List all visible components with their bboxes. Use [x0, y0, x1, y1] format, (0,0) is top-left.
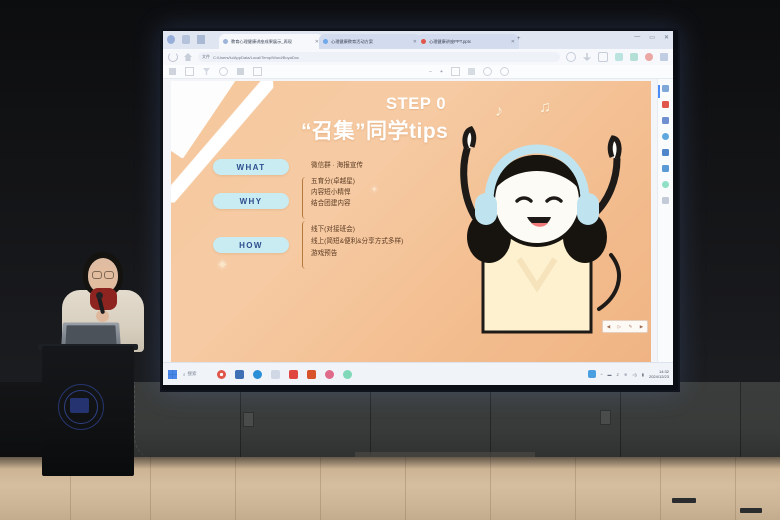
how-line-2: 线上(简短&便利&分享方式多样)	[311, 237, 403, 246]
draw-icon[interactable]: ✎	[629, 324, 633, 330]
wall-socket	[243, 412, 254, 427]
seal-monogram	[70, 398, 89, 413]
why-line-2: 内容短小精悍	[311, 188, 351, 197]
laptop-screen	[65, 325, 116, 345]
document-toolbar: − +	[163, 65, 673, 79]
pill-how: HOW	[213, 237, 289, 253]
why-brace	[302, 177, 309, 219]
window-controls: — ▭ ✕	[634, 34, 669, 41]
rotate-icon[interactable]	[483, 67, 492, 76]
why-line-3: 结合团建内容	[311, 199, 351, 208]
app-icon[interactable]	[662, 149, 669, 156]
browser-tab[interactable]: 心理健康教育活动方案 ✕	[319, 34, 421, 49]
layout-icon[interactable]	[468, 68, 475, 75]
circle-icon[interactable]	[662, 181, 669, 188]
link-icon[interactable]	[219, 67, 228, 76]
address-text: C:/Users/lu/AppData/Local/Temp/Word/Boya…	[213, 55, 299, 60]
filter-icon[interactable]	[203, 68, 210, 75]
person-icon[interactable]	[662, 117, 669, 124]
edge-icon[interactable]	[253, 370, 262, 379]
battery-icon[interactable]: ▮	[642, 372, 644, 377]
podium-cable	[134, 382, 157, 460]
input-icon[interactable]: Z	[617, 372, 619, 377]
toolbox-icon[interactable]	[662, 101, 669, 108]
how-line-3: 游戏预告	[311, 249, 337, 258]
folder-icon[interactable]	[271, 370, 280, 379]
tab-favicon	[223, 39, 228, 44]
tab-label: 心理健康教育活动方案	[331, 39, 373, 45]
explorer-icon[interactable]	[235, 370, 244, 379]
lecture-hall-scene: 教育心理健康讲座成果展示_再现 ✕ 心理健康教育活动方案 ✕ 心理健康讲座PPT…	[0, 0, 780, 520]
music-note-icon: ♫	[539, 99, 551, 117]
start-button[interactable]	[168, 370, 177, 379]
how-line-1: 线下(对接班会)	[311, 225, 355, 234]
wifi-icon[interactable]: ≋	[624, 372, 627, 377]
slide-step-label: STEP 0	[386, 95, 446, 114]
projected-browser-window: 教育心理健康讲座成果展示_再现 ✕ 心理健康教育活动方案 ✕ 心理健康讲座PPT…	[163, 31, 673, 385]
tab-label: 教育心理健康讲座成果展示_再现	[231, 39, 292, 45]
tab-favicon	[323, 39, 328, 44]
text-icon[interactable]	[237, 68, 244, 75]
settings-icon[interactable]	[182, 35, 190, 44]
taskbar-system-tray: ^ ▬ Z ≋ ◁) ▮ 14:32 2024/12/23	[588, 369, 669, 379]
share-icon[interactable]	[598, 52, 608, 62]
microphone-head	[96, 292, 103, 299]
profile-icon[interactable]	[645, 53, 653, 61]
prev-icon[interactable]: ◀	[607, 324, 610, 330]
notification-icon[interactable]	[588, 370, 596, 378]
slide-title: “召集”同学tips	[301, 115, 448, 145]
pill-what: WHAT	[213, 159, 289, 175]
play-icon[interactable]: ▷	[618, 324, 621, 330]
downloads-icon[interactable]	[583, 53, 591, 61]
wall-acoustic-panels	[130, 382, 780, 460]
home-icon[interactable]	[184, 53, 192, 61]
tab-label: 心理健康讲座PPT.pptx	[429, 39, 471, 45]
sparkle-icon: ✦	[371, 185, 378, 194]
floor-object	[672, 498, 696, 503]
pill-why: WHY	[213, 193, 289, 209]
wall-socket	[600, 410, 611, 425]
highlighter-icon[interactable]	[662, 85, 669, 92]
tab-favicon	[421, 39, 426, 44]
window-left-icons	[167, 35, 205, 44]
how-brace	[302, 221, 309, 269]
browser-navbar: 文件 C:/Users/lu/AppData/Local/Temp/Word/B…	[163, 49, 673, 65]
tab-close-icon[interactable]: ✕	[511, 39, 515, 45]
profile-icon[interactable]	[167, 35, 175, 44]
slide-decor-diagonal	[171, 81, 277, 203]
navbar-right-icons	[566, 52, 668, 62]
zoom-controls: − +	[429, 67, 509, 76]
browser-tabstrip: 教育心理健康讲座成果展示_再现 ✕ 心理健康教育活动方案 ✕ 心理健康讲座PPT…	[163, 31, 673, 49]
zoom-in-button[interactable]: +	[440, 69, 443, 75]
video-icon[interactable]	[662, 165, 669, 172]
add-icon[interactable]	[662, 197, 669, 204]
taskbar-search[interactable]: ⌕ 搜索	[183, 371, 197, 377]
windows-taskbar: ⌕ 搜索 ^ ▬ Z ≋ ◁) ▮	[163, 362, 673, 385]
taskbar-clock[interactable]: 14:32 2024/12/23	[649, 369, 669, 379]
meeting-icon[interactable]	[343, 370, 352, 379]
extensions-icon[interactable]	[630, 53, 638, 61]
refresh-icon[interactable]	[168, 52, 178, 62]
powerpoint-icon[interactable]	[307, 370, 316, 379]
browser-tab[interactable]: 教育心理健康讲座成果展示_再现 ✕	[219, 34, 323, 49]
rail-active-indicator	[658, 85, 660, 98]
chrome-icon[interactable]	[217, 370, 226, 379]
slide-float-toolbar[interactable]: ◀ ▷ ✎ ▶	[602, 320, 648, 333]
browser-tab[interactable]: 心理健康讲座PPT.pptx ✕	[417, 34, 519, 49]
network-icon[interactable]: ▬	[608, 372, 612, 377]
why-line-1: 五育分(卓越星)	[311, 177, 355, 186]
taskbar-app-icons	[217, 370, 352, 379]
presentation-slide: STEP 0 “召集”同学tips WHAT 微信群 · 海报宣传 WHY 五育…	[171, 81, 651, 363]
glasses-icon	[92, 271, 102, 279]
search-placeholder: 搜索	[188, 371, 197, 377]
next-icon[interactable]: ▶	[640, 324, 643, 330]
sparkle-icon: ✦	[217, 257, 228, 273]
floor-object	[740, 508, 762, 513]
sidebar-icon[interactable]	[660, 53, 668, 61]
menu-icon[interactable]	[169, 68, 176, 75]
dancing-person-svg	[441, 97, 641, 347]
clock-date: 2024/12/23	[649, 374, 669, 379]
wps-icon[interactable]	[289, 370, 298, 379]
glasses-icon	[104, 271, 114, 279]
media-icon[interactable]	[325, 370, 334, 379]
illustration-person-with-headphones: ♪ ♫	[441, 97, 641, 347]
search-icon: ⌕	[183, 372, 186, 377]
address-bar[interactable]: 文件 C:/Users/lu/AppData/Local/Temp/Word/B…	[198, 52, 560, 62]
history-icon[interactable]	[566, 52, 576, 62]
close-button[interactable]: ✕	[664, 34, 669, 41]
what-line-1: 微信群 · 海报宣传	[311, 161, 363, 170]
chat-icon[interactable]	[662, 133, 669, 140]
maximize-button[interactable]: ▭	[649, 34, 655, 41]
fit-icon[interactable]	[451, 67, 460, 76]
browser-sidebar-rail	[657, 79, 673, 363]
music-note-icon: ♪	[495, 103, 503, 121]
save-icon[interactable]	[185, 67, 194, 76]
volume-icon[interactable]: ◁)	[632, 372, 636, 377]
new-tab-button[interactable]: +	[517, 36, 521, 42]
minimize-button[interactable]: —	[634, 34, 640, 41]
notes-icon[interactable]	[615, 53, 623, 61]
tab-list-icon[interactable]	[197, 35, 205, 44]
zoom-out-button[interactable]: −	[429, 69, 432, 75]
page-icon[interactable]	[253, 67, 262, 76]
search-page-icon[interactable]	[500, 67, 509, 76]
show-hidden-icon[interactable]: ^	[601, 372, 603, 377]
file-label: 文件	[202, 54, 210, 60]
